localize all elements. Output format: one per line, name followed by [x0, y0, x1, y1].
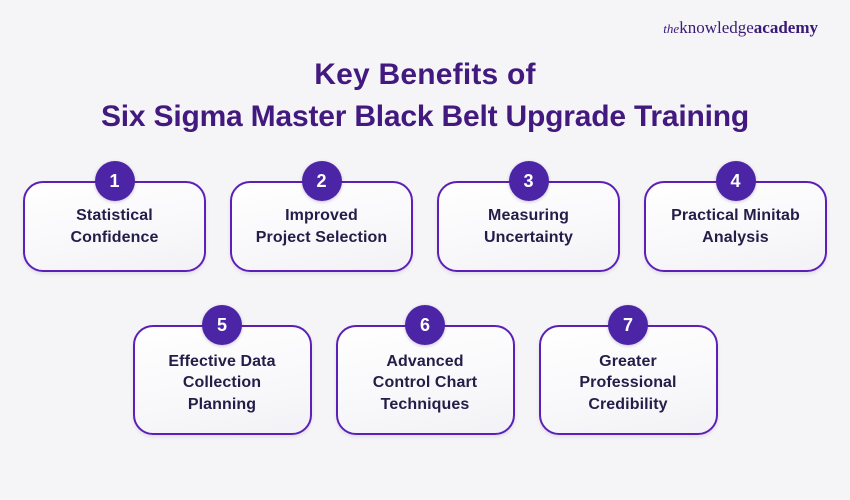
benefit-label-4: Practical Minitab Analysis: [663, 205, 808, 247]
benefit-row-top: 1 Statistical Confidence 2 Improved Proj…: [0, 161, 850, 272]
brand-logo-the: the: [663, 21, 679, 36]
benefit-number-badge-2: 2: [302, 161, 342, 201]
title-line-1: Key Benefits of: [0, 58, 850, 93]
benefit-label-6: Advanced Control Chart Techniques: [365, 345, 485, 414]
benefit-card-2[interactable]: 2 Improved Project Selection: [230, 161, 413, 272]
benefit-number-badge-3: 3: [509, 161, 549, 201]
benefit-card-6[interactable]: 6 Advanced Control Chart Techniques: [336, 305, 515, 435]
brand-logo-knowledge: knowledge: [679, 18, 754, 37]
benefit-number-badge-5: 5: [202, 305, 242, 345]
benefit-number-badge-4: 4: [716, 161, 756, 201]
benefit-label-2: Improved Project Selection: [248, 205, 396, 247]
benefit-number-badge-6: 6: [405, 305, 445, 345]
benefit-label-5: Effective Data Collection Planning: [160, 345, 283, 414]
benefit-row-bottom: 5 Effective Data Collection Planning 6 A…: [0, 305, 850, 435]
brand-logo: theknowledgeacademy: [663, 18, 818, 38]
benefit-card-5[interactable]: 5 Effective Data Collection Planning: [133, 305, 312, 435]
benefit-label-1: Statistical Confidence: [62, 205, 166, 247]
benefit-card-1[interactable]: 1 Statistical Confidence: [23, 161, 206, 272]
benefit-number-badge-7: 7: [608, 305, 648, 345]
brand-logo-academy: academy: [754, 18, 818, 37]
benefit-card-4[interactable]: 4 Practical Minitab Analysis: [644, 161, 827, 272]
benefit-card-3[interactable]: 3 Measuring Uncertainty: [437, 161, 620, 272]
benefit-number-badge-1: 1: [95, 161, 135, 201]
benefit-card-7[interactable]: 7 Greater Professional Credibility: [539, 305, 718, 435]
title-line-2: Six Sigma Master Black Belt Upgrade Trai…: [0, 97, 850, 136]
page-title: Key Benefits of Six Sigma Master Black B…: [0, 58, 850, 136]
benefit-label-7: Greater Professional Credibility: [571, 345, 684, 414]
benefit-label-3: Measuring Uncertainty: [476, 205, 581, 247]
